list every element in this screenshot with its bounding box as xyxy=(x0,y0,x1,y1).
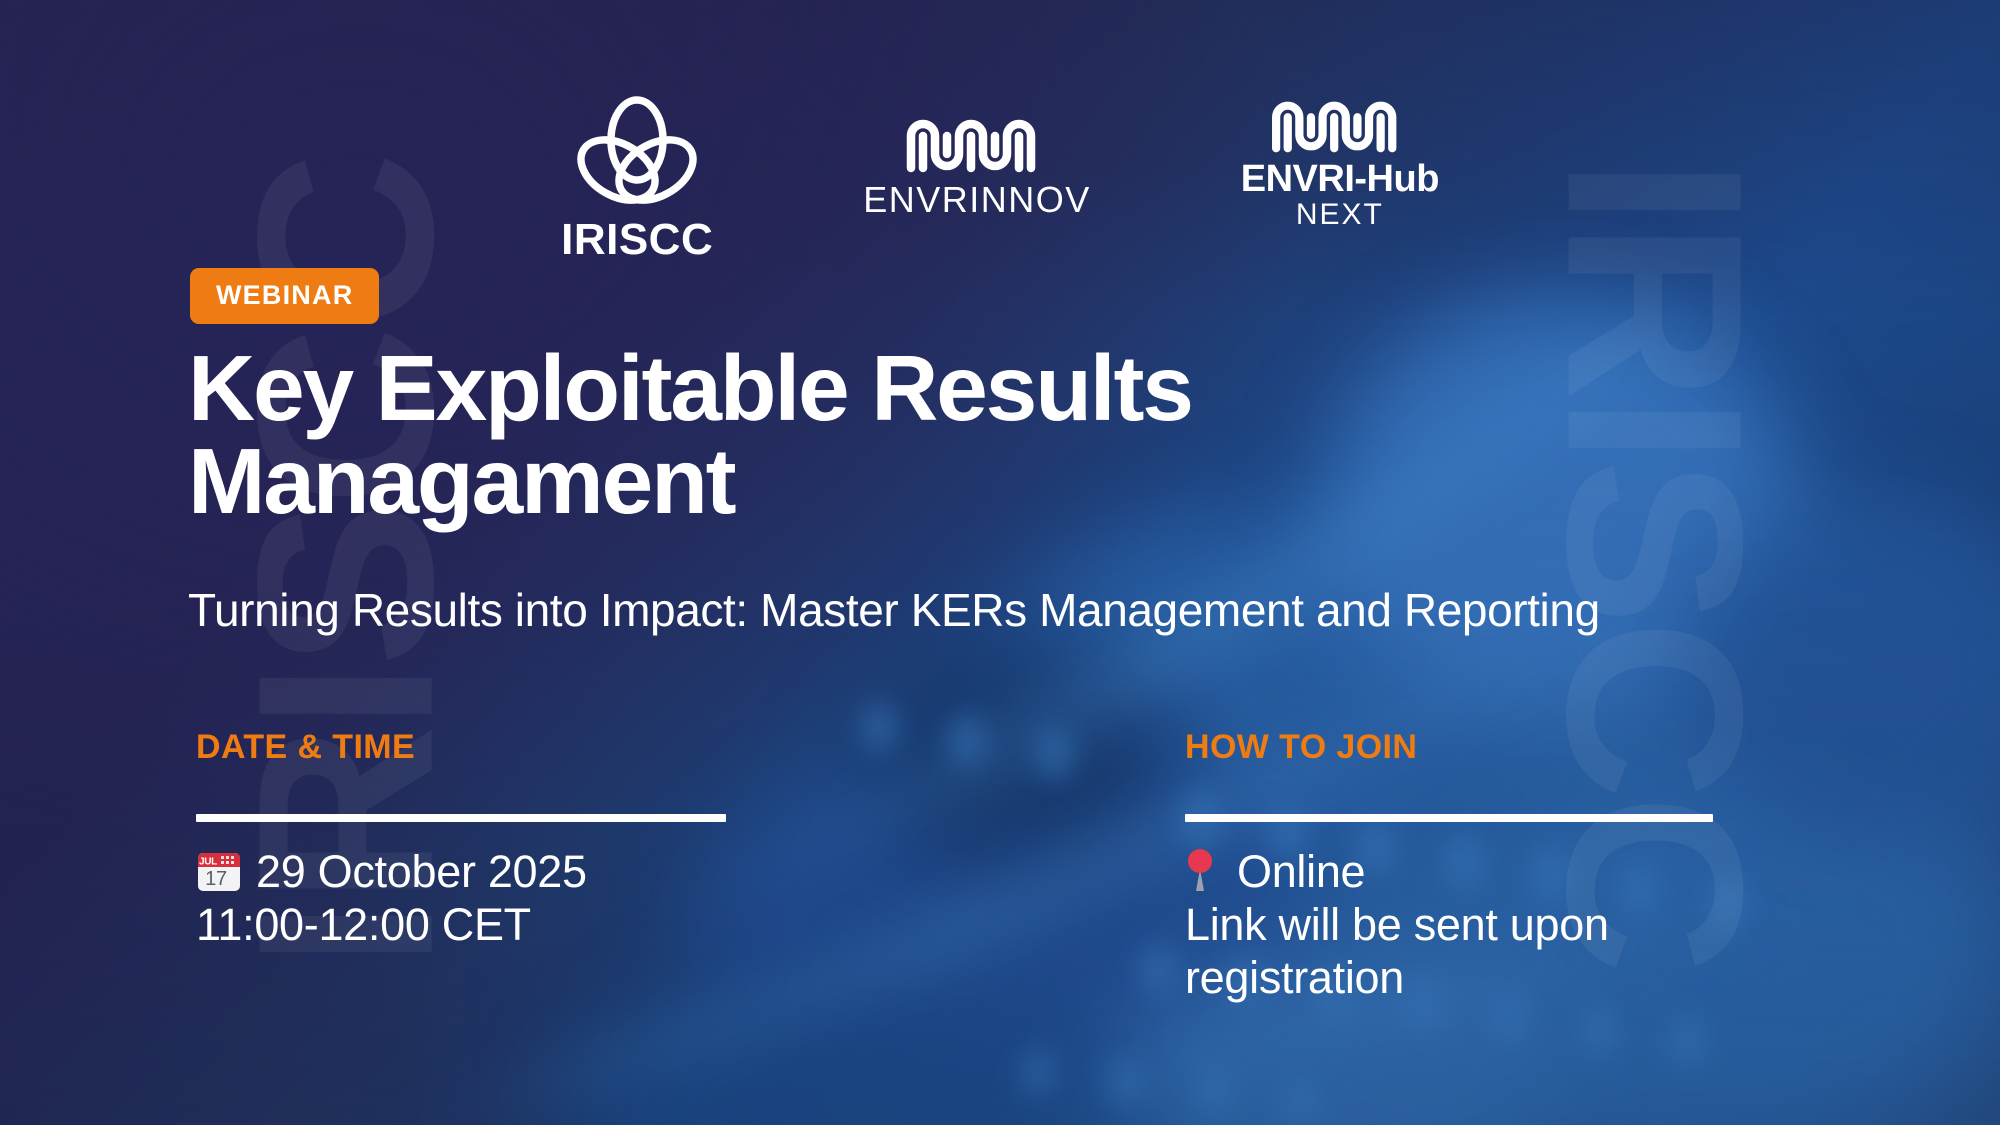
venue-line: Online xyxy=(1237,845,1365,898)
join-info-line2: registration xyxy=(1185,951,1725,1004)
how-to-join-body: Online Link will be sent upon registrati… xyxy=(1185,845,1725,1004)
how-to-join-divider xyxy=(1185,814,1713,822)
logo-iriscc-label: IRISCC xyxy=(561,218,713,262)
webinar-banner: IRISCC IRISCC IRISCC xyxy=(0,0,2000,1125)
how-to-join-heading: HOW TO JOIN xyxy=(1185,730,1725,764)
how-to-join-block: HOW TO JOIN Online Link will be sent upo… xyxy=(1185,730,1725,1004)
logo-envrinnov-label: ENVRINNOV xyxy=(863,182,1091,218)
date-time-block: DATE & TIME JUL xyxy=(196,730,726,951)
location-pin-icon xyxy=(1185,845,1215,893)
date-time-heading: DATE & TIME xyxy=(196,730,726,764)
page-title-line2: Managament xyxy=(188,435,1192,528)
status-badge: WEBINAR xyxy=(190,268,379,324)
logo-envrinnov: ENVRINNOV xyxy=(863,114,1091,218)
logo-next-label: NEXT xyxy=(1296,200,1384,230)
join-info-line1: Link will be sent upon xyxy=(1185,898,1725,951)
date-time-body: JUL 17 29 October 2025 11:00-12:00 CE xyxy=(196,845,726,951)
serpentine-wave-icon xyxy=(1266,96,1414,156)
page-subtitle: Turning Results into Impact: Master KERs… xyxy=(188,585,1600,636)
logo-iriscc: IRISCC xyxy=(561,96,713,262)
banner-content: IRISCC ENVRINNOV xyxy=(0,0,2000,1125)
calendar-icon: JUL 17 xyxy=(196,845,242,895)
svg-text:JUL: JUL xyxy=(199,857,217,868)
time-line: 11:00-12:00 CET xyxy=(196,898,726,951)
page-title: Key Exploitable Results Managament xyxy=(188,342,1192,528)
date-time-divider xyxy=(196,814,726,822)
svg-text:17: 17 xyxy=(205,868,227,890)
logo-envri-hub-label: ENVRI-Hub xyxy=(1241,160,1439,198)
triquetra-icon xyxy=(563,96,711,214)
logo-row: IRISCC ENVRINNOV xyxy=(0,96,2000,262)
logo-envri-hub-next: ENVRI-Hub NEXT xyxy=(1241,96,1439,230)
date-line: 29 October 2025 xyxy=(256,845,587,898)
page-title-line1: Key Exploitable Results xyxy=(188,336,1192,440)
serpentine-wave-icon xyxy=(901,114,1053,176)
